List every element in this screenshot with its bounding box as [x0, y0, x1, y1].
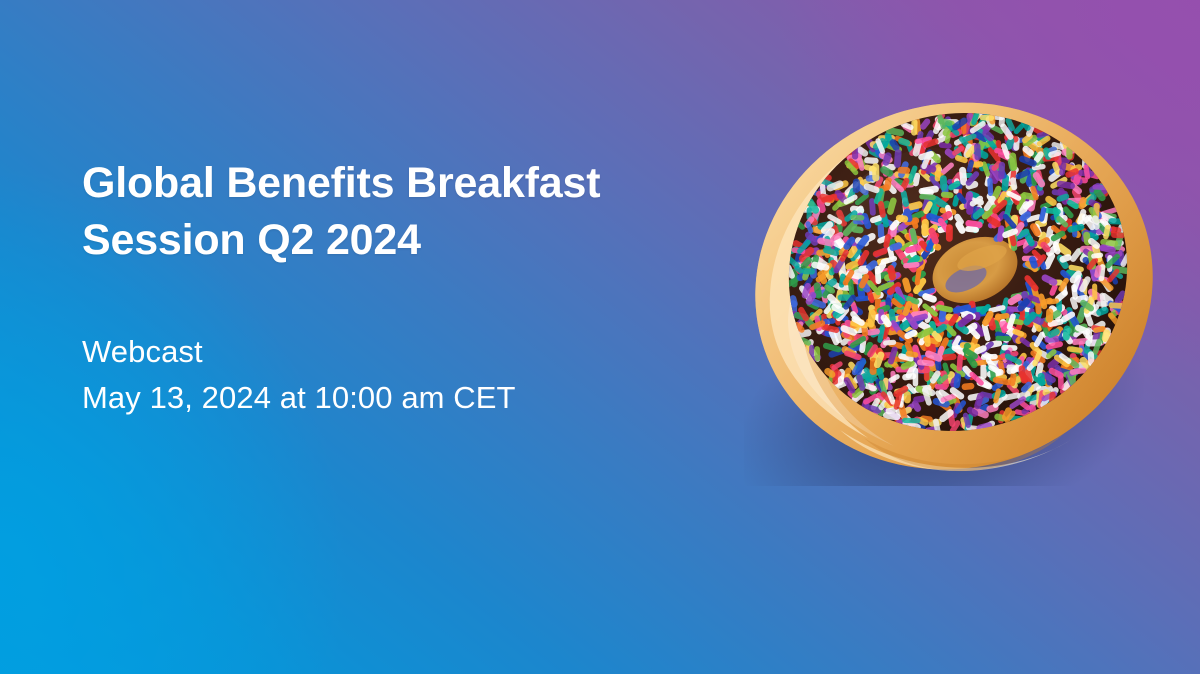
page-title: Global Benefits Breakfast Session Q2 202… — [82, 155, 600, 269]
banner-copy: Global Benefits Breakfast Session Q2 202… — [82, 155, 600, 421]
donut-with-sprinkles-image — [744, 86, 1174, 486]
event-format-label: Webcast — [82, 329, 600, 375]
event-details: Webcast May 13, 2024 at 10:00 am CET — [82, 329, 600, 421]
event-datetime-label: May 13, 2024 at 10:00 am CET — [82, 375, 600, 421]
event-promo-banner: Global Benefits Breakfast Session Q2 202… — [0, 0, 1200, 674]
